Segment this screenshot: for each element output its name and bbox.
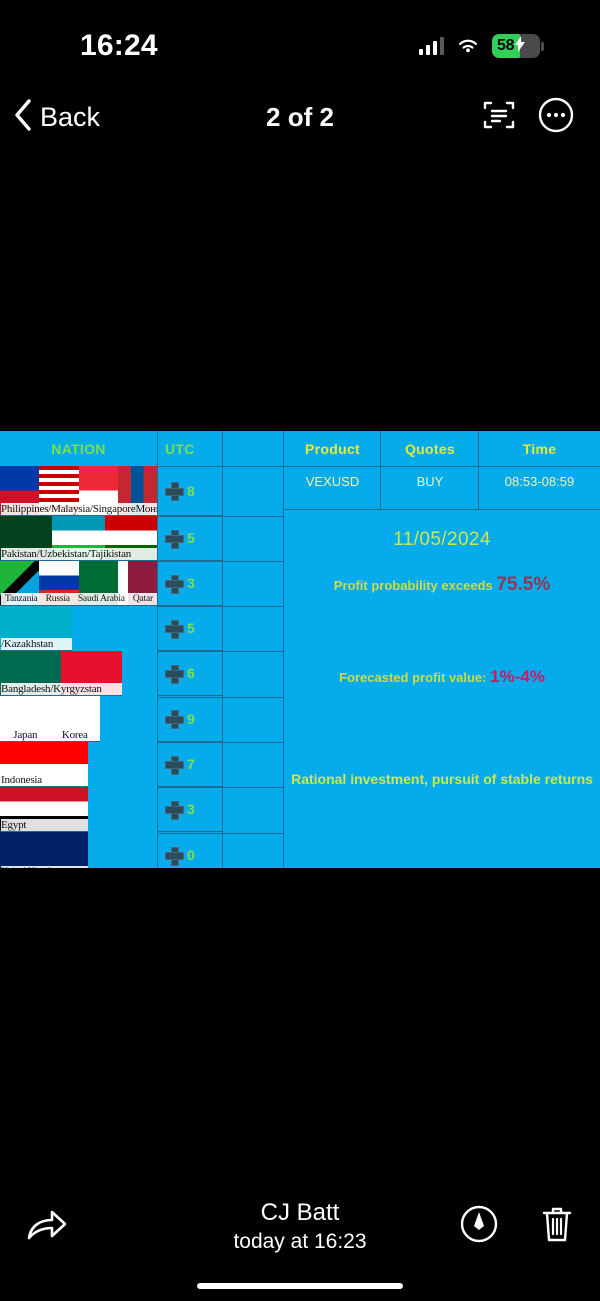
utc-offset: 9	[187, 711, 195, 727]
forecast-value: 1%-4%	[490, 667, 545, 686]
markup-pen-icon[interactable]	[460, 1205, 498, 1248]
live-text-scan-icon[interactable]	[482, 98, 516, 137]
phone-screen: 16:24 58	[0, 0, 600, 1301]
home-indicator	[197, 1283, 403, 1289]
profit-probability-label: Profit probability exceeds	[334, 578, 493, 593]
charging-bolt-icon	[515, 36, 525, 57]
cell-time-value: 08:53-08:59	[479, 474, 600, 489]
utc-column: 8 5 3 5 6 9 7	[157, 466, 222, 868]
plus-icon	[165, 756, 182, 773]
cell-product-value: VEXUSD	[284, 474, 381, 489]
grid-line-horizontal	[157, 606, 283, 607]
utc-offset: 3	[187, 575, 195, 591]
grid-line-vertical	[222, 431, 223, 868]
row-label: Indonesia	[1, 774, 88, 786]
row-label: /Kazakhstan	[1, 638, 72, 650]
row-label-extra: Монгол	[136, 503, 157, 515]
plus-icon	[165, 710, 182, 727]
plus-icon	[165, 801, 182, 818]
status-bar-clock: 16:24	[80, 29, 158, 63]
utc-cell: 5	[157, 606, 222, 651]
column-header-quotes: Quotes	[381, 441, 479, 457]
utc-offset: 3	[187, 801, 195, 817]
grid-line-horizontal	[157, 516, 283, 517]
utc-offset: 8	[187, 483, 195, 499]
battery-cap	[541, 42, 544, 51]
more-options-icon[interactable]	[538, 97, 574, 138]
row-label-text: Tanzania	[5, 593, 38, 605]
table-row: Bangladesh/Kyrgyzstan	[0, 651, 122, 696]
navigation-bar: Back 2 of 2	[0, 92, 600, 142]
flag-group	[0, 832, 88, 868]
utc-cell: 3	[157, 787, 222, 832]
row-label: Bangladesh/Kyrgyzstan	[1, 683, 122, 695]
utc-offset: 6	[187, 665, 195, 681]
profit-probability-line: Profit probability exceeds 75.5%	[284, 574, 600, 596]
toolbar-actions	[460, 1204, 574, 1249]
utc-offset: 5	[187, 620, 195, 636]
back-button[interactable]: Back	[14, 99, 100, 136]
forecast-line: Forecasted profit value: 1%-4%	[284, 667, 600, 687]
row-label-text: Japan	[13, 729, 37, 741]
plus-icon	[165, 482, 182, 499]
row-label-text2: Korea	[62, 729, 88, 741]
grid-line-horizontal	[157, 787, 283, 788]
column-header-time: Time	[479, 441, 600, 457]
table-row: Pakistan/Uzbekistan/Tajikistan	[0, 516, 157, 561]
table-row: Indonesia	[0, 742, 88, 787]
table-row: Egypt	[0, 787, 88, 832]
plus-icon	[165, 620, 182, 637]
cellular-signal-icon	[419, 37, 445, 55]
column-header-utc: UTC	[158, 441, 222, 457]
row-label: United Kingdom	[1, 866, 88, 868]
trade-date: 11/05/2024	[284, 529, 600, 551]
row-label: Tanzania Russia Saudi Arabia Qatar	[1, 593, 157, 605]
plus-icon	[165, 575, 182, 592]
row-label-text: Philippines/Malaysia/Singapore	[1, 503, 136, 515]
table-row: United Kingdom	[0, 832, 88, 868]
plus-icon	[165, 530, 182, 547]
utc-cell: 5	[157, 516, 222, 561]
bottom-toolbar: CJ Batt today at 16:23	[0, 1191, 600, 1261]
slogan: Rational investment, pursuit of stable r…	[284, 771, 600, 787]
utc-offset: 0	[187, 847, 195, 863]
grid-line-horizontal	[157, 742, 283, 743]
table-row: Tanzania Russia Saudi Arabia Qatar	[0, 561, 157, 606]
nation-column: Philippines/Malaysia/Singapore Монгол Pa…	[0, 466, 157, 868]
plus-icon	[165, 847, 182, 864]
trash-icon[interactable]	[540, 1204, 574, 1249]
utc-offset: 5	[187, 530, 195, 546]
grid-line-horizontal	[157, 651, 283, 652]
utc-cell: 6	[157, 651, 222, 696]
status-bar: 16:24 58	[0, 0, 600, 78]
table-row: Philippines/Malaysia/Singapore Монгол	[0, 466, 157, 516]
utc-cell: 7	[157, 742, 222, 787]
row-label: Pakistan/Uzbekistan/Tajikistan	[1, 548, 157, 560]
forecast-label: Forecasted profit value:	[339, 670, 486, 685]
utc-cell: 0	[157, 832, 222, 868]
row-label-text2: Russia	[46, 593, 70, 605]
table-row: Japan Korea	[0, 696, 100, 742]
row-label-text4: Qatar	[133, 593, 153, 605]
photo-content[interactable]: NATION UTC Product Quotes Time VEXUSD BU…	[0, 431, 600, 868]
battery-percent-label: 58	[492, 37, 514, 55]
back-button-label: Back	[40, 102, 100, 133]
plus-icon	[165, 665, 182, 682]
grid-line-horizontal	[157, 697, 283, 698]
utc-cell: 8	[157, 466, 222, 516]
share-icon[interactable]	[26, 1205, 68, 1248]
utc-cell: 9	[157, 696, 222, 742]
flag-united-kingdom	[0, 832, 88, 868]
utc-offset: 7	[187, 756, 195, 772]
row-label: Philippines/Malaysia/Singapore Монгол	[1, 503, 157, 515]
table-row: /Kazakhstan	[0, 606, 72, 651]
row-label-text3: Saudi Arabia	[78, 593, 125, 605]
profit-probability-value: 75.5%	[496, 574, 550, 595]
info-panel: 11/05/2024 Profit probability exceeds 75…	[284, 509, 600, 868]
grid-line-horizontal	[157, 561, 283, 562]
utc-cell: 3	[157, 561, 222, 606]
row-label: Egypt	[1, 819, 88, 831]
wifi-icon	[456, 37, 480, 55]
status-bar-indicators: 58	[419, 34, 545, 58]
nav-actions	[482, 97, 574, 138]
chevron-left-icon	[14, 99, 32, 136]
column-header-nation: NATION	[0, 441, 157, 457]
row-label: Japan Korea	[1, 729, 100, 741]
cell-quotes-value: BUY	[381, 474, 479, 489]
battery-icon: 58	[492, 34, 540, 58]
grid-line-horizontal	[157, 833, 283, 834]
column-header-product: Product	[284, 441, 381, 457]
